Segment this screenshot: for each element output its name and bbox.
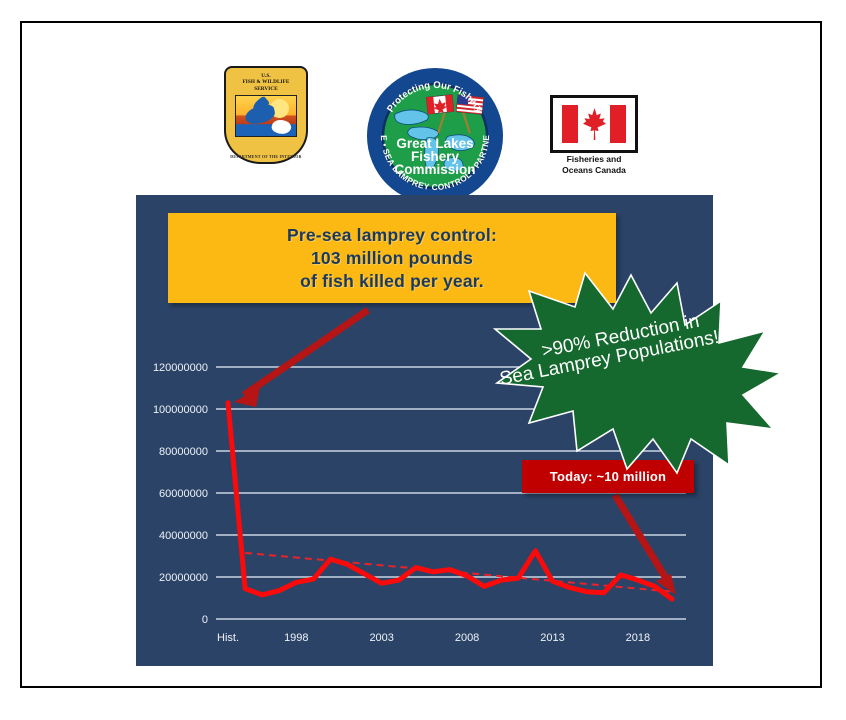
x-tick-label: 2013	[540, 632, 564, 644]
y-axis-labels: 0200000004000000060000000800000001000000…	[153, 362, 208, 626]
callout-line-2: 103 million pounds	[311, 247, 473, 270]
x-tick-label: 2003	[369, 632, 393, 644]
pre-control-arrow	[234, 310, 368, 407]
callout-line-3: of fish killed per year.	[300, 270, 484, 293]
today-arrow	[615, 495, 676, 595]
data-line	[228, 403, 672, 599]
today-value-label: Today: ~10 million	[522, 460, 694, 493]
x-tick-label: 2018	[626, 632, 650, 644]
x-tick-label: Hist.	[217, 632, 239, 644]
fws-title-line-1: U.S. FISH & WILDLIFE SERVICE	[224, 73, 308, 92]
maple-leaf-icon	[582, 107, 607, 141]
y-tick-label: 60000000	[159, 488, 208, 500]
x-axis-labels: Hist.19982003200820132018	[217, 632, 650, 644]
y-tick-label: 80000000	[159, 446, 208, 458]
y-tick-label: 0	[202, 614, 208, 626]
dfo-caption: Fisheries and Oceans Canada	[544, 154, 644, 176]
fws-emblem-art	[235, 95, 297, 137]
today-value-text: Today: ~10 million	[550, 469, 666, 484]
logo-strip: U.S. FISH & WILDLIFE SERVICE DEPARTMENT …	[20, 21, 822, 191]
duck-icon	[244, 103, 277, 126]
slide-screenshot: U.S. FISH & WILDLIFE SERVICE DEPARTMENT …	[0, 0, 846, 720]
x-tick-label: 1998	[284, 632, 308, 644]
y-tick-label: 120000000	[153, 362, 208, 374]
y-tick-label: 20000000	[159, 572, 208, 584]
us-fish-wildlife-service-logo: U.S. FISH & WILDLIFE SERVICE DEPARTMENT …	[224, 66, 308, 164]
great-lakes-fishery-commission-logo: Great Lakes Fishery Commission Protectin…	[365, 66, 505, 206]
y-tick-label: 100000000	[153, 404, 208, 416]
fish-icon	[270, 117, 292, 136]
y-tick-label: 40000000	[159, 530, 208, 542]
canada-flag-icon	[550, 95, 638, 153]
callout-line-1: Pre-sea lamprey control:	[287, 224, 497, 247]
pre-control-callout: Pre-sea lamprey control: 103 million pou…	[168, 213, 616, 303]
chart-panel: 0200000004000000060000000800000001000000…	[136, 195, 713, 666]
fws-bottom-text: DEPARTMENT OF THE INTERIOR	[224, 154, 308, 159]
x-tick-label: 2008	[455, 632, 479, 644]
fisheries-oceans-canada-logo: Fisheries and Oceans Canada	[550, 95, 650, 180]
